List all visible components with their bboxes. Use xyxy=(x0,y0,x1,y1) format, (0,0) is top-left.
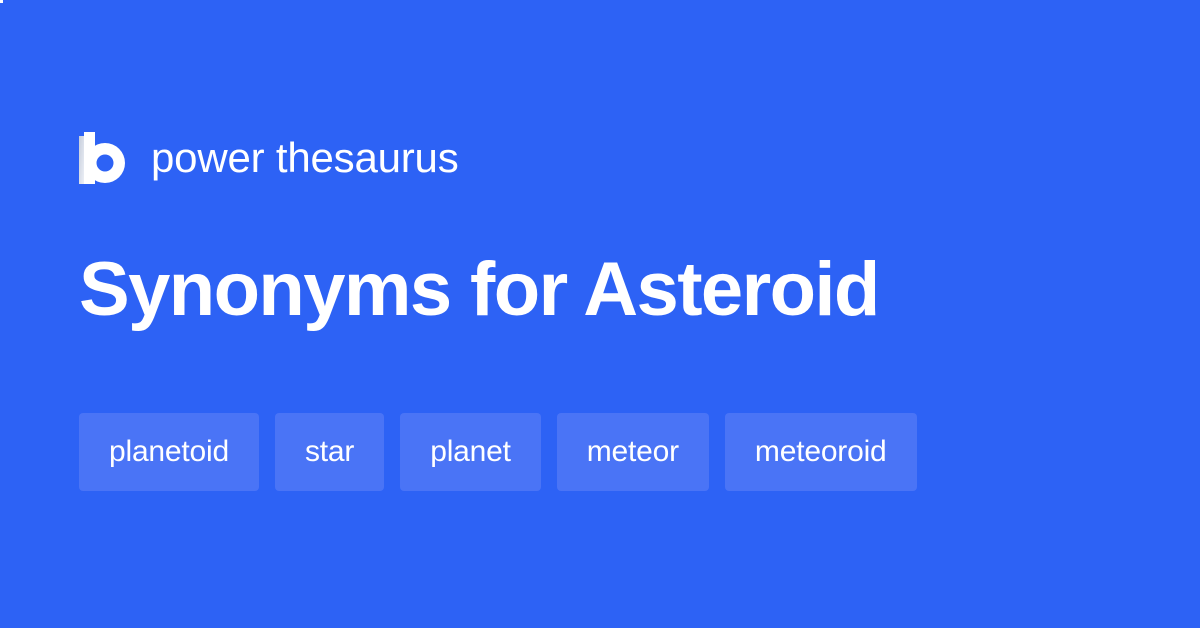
share-card: power thesaurus Synonyms for Asteroid pl… xyxy=(0,0,1200,628)
page-title: Synonyms for Asteroid xyxy=(79,252,879,328)
synonym-chip[interactable]: meteor xyxy=(557,413,709,491)
synonym-chip[interactable]: planet xyxy=(400,413,541,491)
synonym-chip[interactable]: planetoid xyxy=(79,413,259,491)
corner-artifact xyxy=(0,0,3,3)
brand-lockup[interactable]: power thesaurus xyxy=(79,128,459,188)
power-thesaurus-b-logo-icon xyxy=(79,132,125,184)
synonym-chip[interactable]: star xyxy=(275,413,384,491)
synonym-chip-list: planetoid star planet meteor meteoroid xyxy=(79,413,1121,491)
brand-name: power thesaurus xyxy=(151,137,459,179)
synonym-chip[interactable]: meteoroid xyxy=(725,413,917,491)
